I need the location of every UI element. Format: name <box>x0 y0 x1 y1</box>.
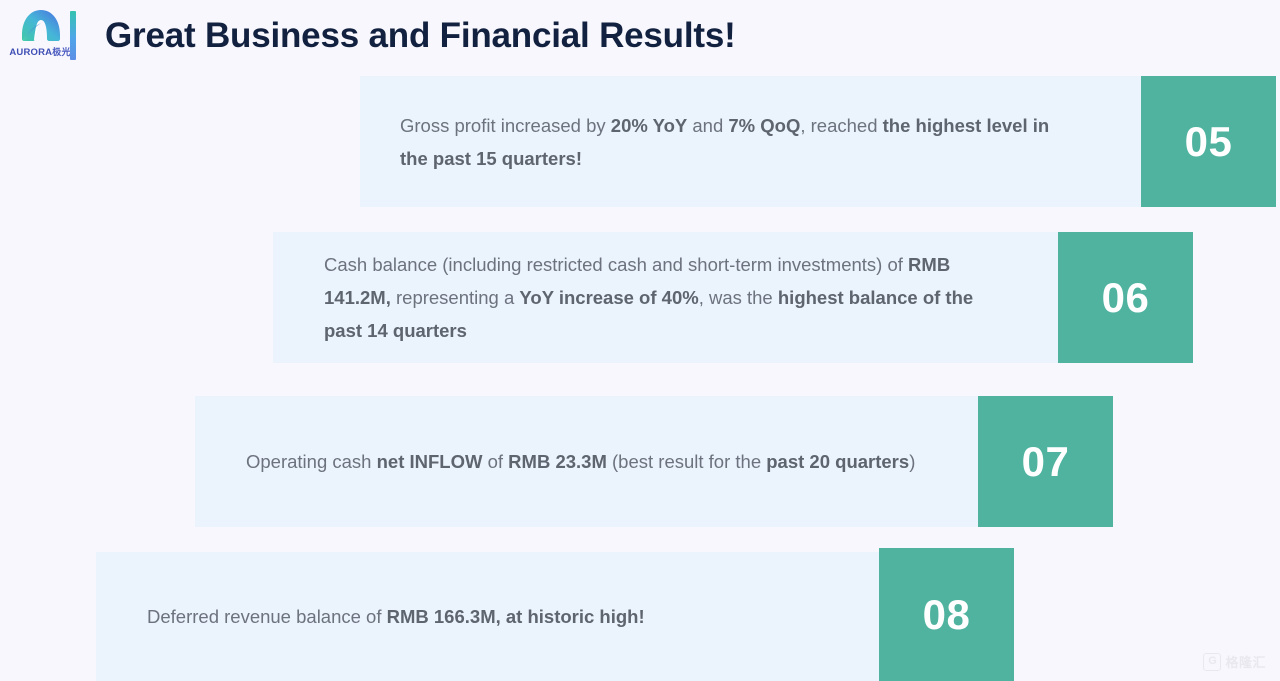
aurora-wordmark: AURORA极光 <box>8 45 72 58</box>
body-text: of <box>482 451 508 472</box>
highlight-badge-05: 05 <box>1141 76 1276 207</box>
body-text: Gross profit increased by <box>400 115 611 136</box>
body-text: Deferred revenue balance of <box>147 606 387 627</box>
emphasis-text: RMB 23.3M <box>508 451 607 472</box>
emphasis-text: YoY increase of 40% <box>519 287 698 308</box>
highlight-text-07: Operating cash net INFLOW of RMB 23.3M (… <box>246 445 915 478</box>
aurora-arch-logo-icon <box>20 8 62 44</box>
body-text: , was the <box>699 287 778 308</box>
highlight-text-05: Gross profit increased by 20% YoY and 7%… <box>400 109 1065 175</box>
gelonghui-watermark: G 格隆汇 <box>1203 652 1266 671</box>
highlight-panel-05: Gross profit increased by 20% YoY and 7%… <box>360 76 1185 207</box>
emphasis-text: RMB 166.3M, at historic high! <box>387 606 645 627</box>
emphasis-text: past 20 quarters <box>766 451 909 472</box>
header-gradient-divider <box>70 11 76 60</box>
highlight-badge-07: 07 <box>978 396 1113 527</box>
body-text: ) <box>909 451 915 472</box>
body-text: representing a <box>391 287 520 308</box>
body-text: , reached <box>800 115 882 136</box>
body-text: Operating cash <box>246 451 377 472</box>
highlight-number-07: 07 <box>1022 441 1070 483</box>
aurora-wordmark-cn: 极光 <box>52 47 70 57</box>
emphasis-text: 20% YoY <box>611 115 687 136</box>
highlight-number-05: 05 <box>1185 121 1233 163</box>
highlight-number-08: 08 <box>923 594 971 636</box>
emphasis-text: net INFLOW <box>377 451 483 472</box>
page-title: Great Business and Financial Results! <box>105 13 736 59</box>
highlight-panel-07: Operating cash net INFLOW of RMB 23.3M (… <box>195 396 1015 527</box>
aurora-logo[interactable]: AURORA极光 <box>8 8 72 62</box>
gelonghui-logo-icon: G <box>1203 653 1221 671</box>
highlight-badge-06: 06 <box>1058 232 1193 363</box>
body-text: and <box>687 115 728 136</box>
highlight-panel-06: Cash balance (including restricted cash … <box>273 232 1093 363</box>
gelonghui-watermark-text: 格隆汇 <box>1225 652 1266 671</box>
highlight-badge-08: 08 <box>879 548 1014 681</box>
highlight-panel-08: Deferred revenue balance of RMB 166.3M, … <box>96 552 916 681</box>
highlight-text-08: Deferred revenue balance of RMB 166.3M, … <box>147 600 645 633</box>
body-text: Cash balance (including restricted cash … <box>324 254 908 275</box>
aurora-wordmark-en: AURORA <box>9 47 52 58</box>
highlight-number-06: 06 <box>1102 277 1150 319</box>
body-text: (best result for the <box>607 451 766 472</box>
highlight-text-06: Cash balance (including restricted cash … <box>324 248 996 347</box>
emphasis-text: 7% QoQ <box>728 115 800 136</box>
page-header: AURORA极光 Great Business and Financial Re… <box>0 0 1280 72</box>
